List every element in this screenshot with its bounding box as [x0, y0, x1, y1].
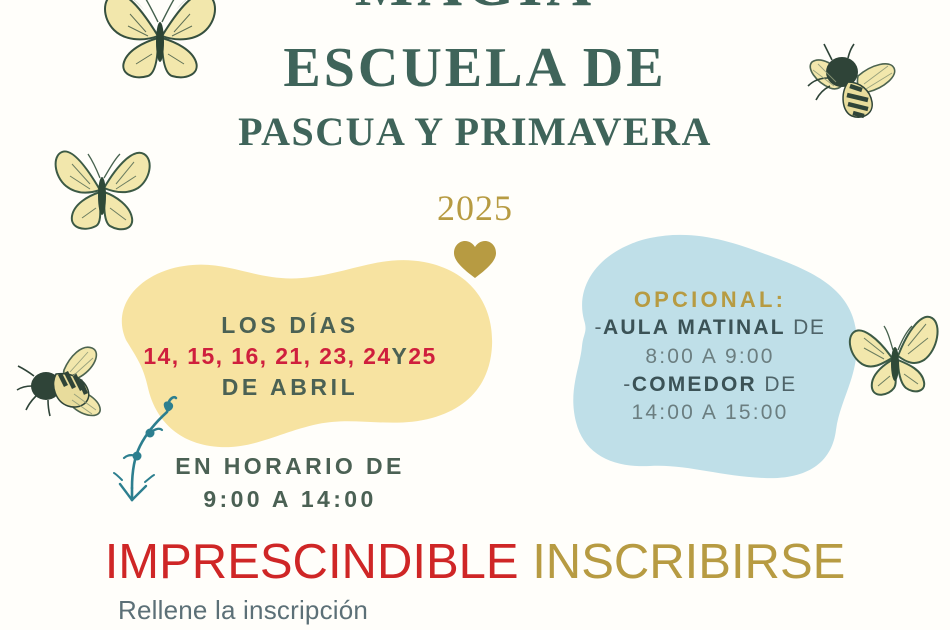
optional-item-aula-matinal: -AULA MATINAL DE	[560, 314, 860, 342]
dates-days: 14, 15, 16, 21, 23, 24Y25	[95, 341, 485, 372]
butterfly-top-left-icon	[96, 0, 224, 84]
sprout-doodle-icon	[112, 388, 190, 506]
dates-days-prefix: 14, 15, 16, 21, 23, 24	[143, 343, 391, 369]
optional-item-comedor: -COMEDOR DE	[560, 371, 860, 399]
optional-item-dash: -	[623, 373, 632, 396]
cta-subtext: Rellene la inscripción	[118, 596, 368, 625]
optional-item-name: COMEDOR	[632, 373, 757, 396]
optional-item-connector: DE	[793, 316, 825, 339]
optional-item-name: AULA MATINAL	[603, 316, 786, 339]
heart-icon	[453, 240, 497, 280]
optional-item-aula-matinal-time: 8:00 A 9:00	[560, 343, 860, 371]
bee-top-right-icon	[802, 42, 906, 130]
butterfly-mid-left-icon	[42, 136, 166, 236]
butterfly-right-icon	[842, 300, 950, 410]
optional-item-connector: DE	[764, 373, 796, 396]
optional-item-comedor-time: 14:00 A 15:00	[560, 399, 860, 427]
bee-mid-left-icon	[16, 342, 122, 420]
heart-container	[0, 240, 950, 284]
call-to-action: IMPRESCINDIBLE INSCRIBIRSE	[0, 538, 950, 587]
optional-item-dash: -	[594, 316, 603, 339]
dates-days-conjunction: Y	[392, 343, 409, 369]
dates-days-last: 25	[408, 343, 436, 369]
optional-card-text: OPCIONAL: -AULA MATINAL DE 8:00 A 9:00 -…	[560, 285, 860, 427]
poster-canvas: MAGIA ESCUELA DE PASCUA Y PRIMAVERA 2025…	[0, 0, 950, 630]
cta-word-inscribirse: INSCRIBIRSE	[532, 535, 845, 589]
cta-word-imprescindible: IMPRESCINDIBLE	[105, 535, 519, 589]
dates-label: LOS DÍAS	[95, 310, 485, 341]
optional-title: OPCIONAL:	[560, 285, 860, 314]
